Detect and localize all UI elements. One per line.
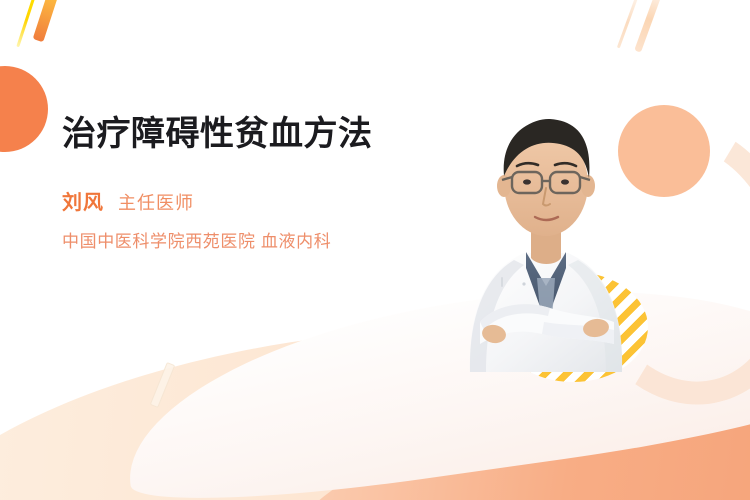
video-cover-card: 治疗障碍性贫血方法 刘风 主任医师 中国中医科学院西苑医院 血液内科 — [0, 0, 750, 500]
cover-title: 治疗障碍性贫血方法 — [62, 112, 402, 156]
text-content-block: 治疗障碍性贫血方法 刘风 主任医师 中国中医科学院西苑医院 血液内科 — [62, 112, 452, 252]
yellow-diagonal-stripe-icon — [16, 0, 39, 47]
peach-diagonal-stripe-icon-a — [617, 0, 643, 48]
orange-diagonal-stripe-icon — [33, 0, 65, 42]
doctor-identity-line: 刘风 主任医师 — [62, 186, 452, 215]
peach-diagonal-stripe-icon-b — [634, 0, 667, 53]
doctor-name: 刘风 — [62, 186, 104, 215]
doctor-portrait-image — [438, 72, 654, 372]
doctor-rank: 主任医师 — [118, 189, 194, 215]
faint-diagonal-stripe-icon — [150, 362, 176, 408]
orange-circle-shape — [0, 66, 48, 152]
salmon-wave-shape — [250, 349, 750, 500]
doctor-organization: 中国中医科学院西苑医院 血液内科 — [62, 227, 452, 252]
white-wave-overlay — [112, 251, 750, 500]
